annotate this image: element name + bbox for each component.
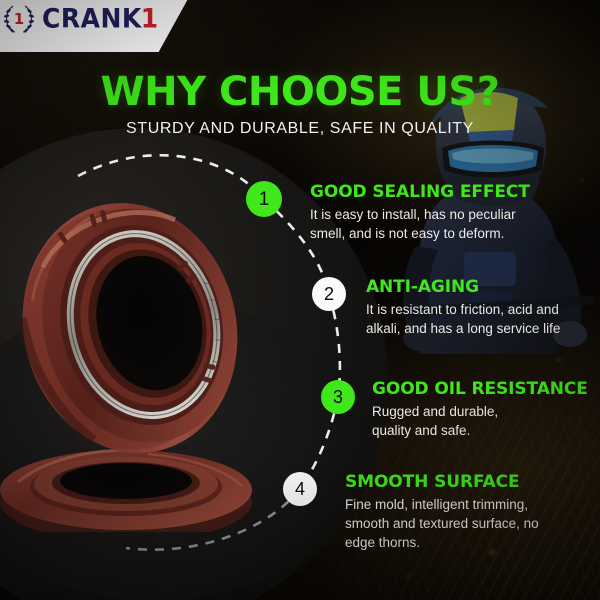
brand-name-accent: 1 [141, 4, 158, 31]
feature-badge-1[interactable]: 1 [246, 181, 282, 217]
feature-badge-3[interactable]: 3 [321, 380, 355, 414]
feature-body-line: quality and safe. [372, 421, 600, 440]
feature-body-line: It is easy to install, has no peculiar [310, 205, 590, 224]
oil-seal-product-image [0, 182, 266, 532]
feature-item-4: SMOOTH SURFACE Fine mold, intelligent tr… [345, 473, 600, 552]
feature-body-line: It is resistant to friction, acid and [366, 300, 600, 319]
feature-body-3: Rugged and durable, quality and safe. [372, 402, 600, 440]
feature-body-4: Fine mold, intelligent trimming, smooth … [345, 495, 600, 552]
feature-body-line: alkali, and has a long service life [366, 319, 600, 338]
feature-body-1: It is easy to install, has no peculiar s… [310, 205, 590, 243]
brand-wordmark: CRANK1 [42, 6, 158, 31]
feature-body-line: smooth and textured surface, no [345, 514, 600, 533]
feature-heading-1: GOOD SEALING EFFECT [310, 183, 590, 202]
feature-item-1: GOOD SEALING EFFECT It is easy to instal… [310, 183, 590, 243]
feature-body-line: edge thorns. [345, 533, 600, 552]
feature-heading-4: SMOOTH SURFACE [345, 473, 600, 492]
feature-item-2: ANTI-AGING It is resistant to friction, … [366, 278, 600, 338]
feature-heading-3: GOOD OIL RESISTANCE [372, 380, 600, 399]
feature-body-line: Fine mold, intelligent trimming, [345, 495, 600, 514]
page-subtitle: STURDY AND DURABLE, SAFE IN QUALITY [0, 120, 600, 138]
laurel-wreath-icon: 1 [2, 2, 36, 34]
infographic-canvas: 1 CRANK1 WHY CHOOSE US? STURDY AND DURAB… [0, 0, 600, 600]
feature-body-line: Rugged and durable, [372, 402, 600, 421]
page-title: WHY CHOOSE US? [0, 72, 600, 112]
brand-name-main: CRANK [42, 4, 142, 31]
feature-badge-4[interactable]: 4 [283, 472, 317, 506]
feature-item-3: GOOD OIL RESISTANCE Rugged and durable, … [372, 380, 600, 440]
feature-body-2: It is resistant to friction, acid and al… [366, 300, 600, 338]
wreath-number: 1 [14, 10, 24, 28]
feature-body-line: smell, and is not easy to deform. [310, 224, 590, 243]
feature-heading-2: ANTI-AGING [366, 278, 600, 297]
feature-badge-2[interactable]: 2 [312, 277, 346, 311]
